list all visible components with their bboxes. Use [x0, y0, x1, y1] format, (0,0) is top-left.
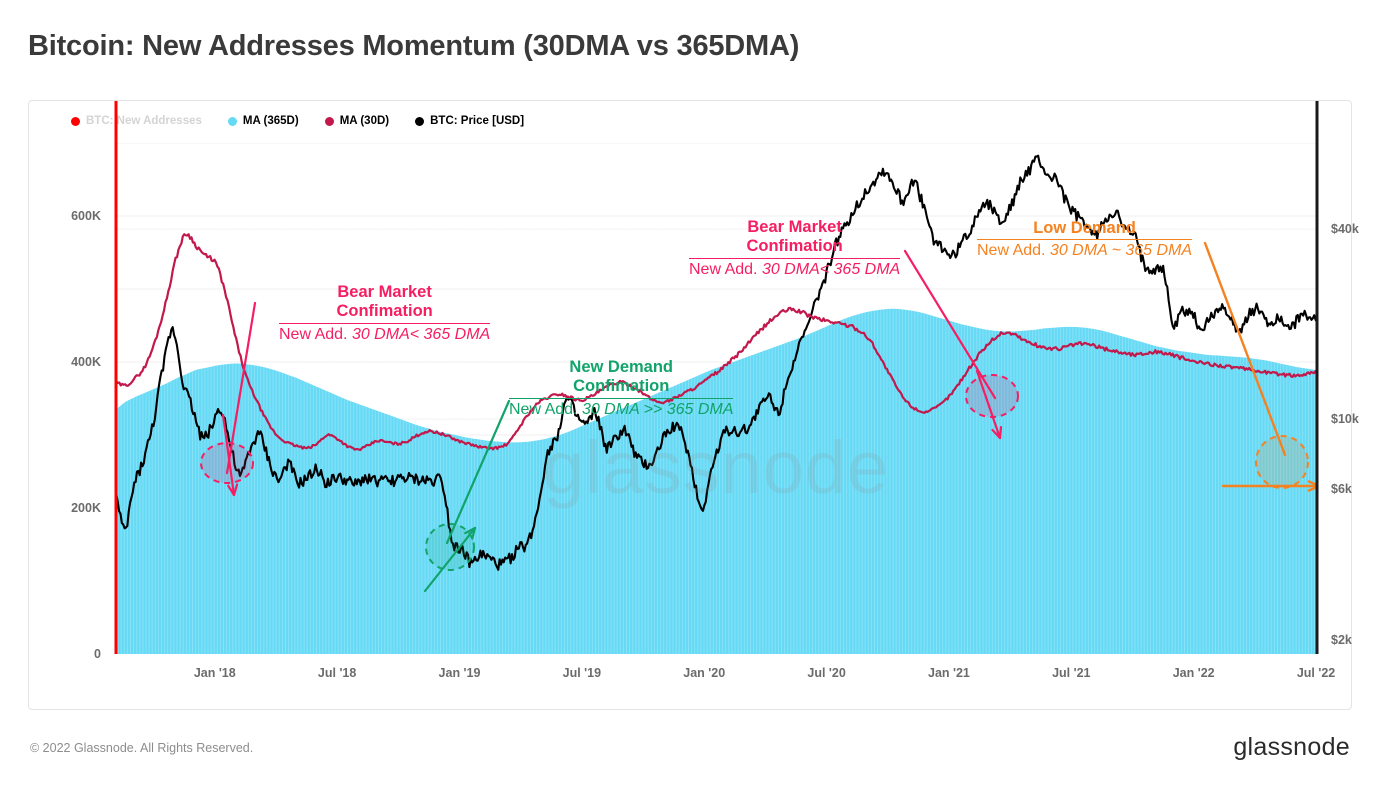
legend-dot-icon [228, 117, 237, 126]
y-axis-right-tick: $6k [1331, 482, 1352, 496]
chart-card: BTC: New Addresses MA (365D) MA (30D) BT… [28, 100, 1352, 710]
chart-page: Bitcoin: New Addresses Momentum (30DMA v… [0, 0, 1380, 795]
annotation-prefix: New Add. [977, 242, 1050, 259]
y-axis-right-tick: $2k [1331, 633, 1352, 647]
y-axis-left-line [111, 101, 121, 656]
y-axis-right-tick: $40k [1331, 222, 1359, 236]
annotation-formula: 30 DMA< 365 DMA [352, 326, 490, 343]
x-axis-tick: Jul '21 [1052, 666, 1090, 680]
x-axis-tick: Jan '19 [439, 666, 481, 680]
annotation-subtitle: New Add. 30 DMA >> 365 DMA [509, 398, 733, 420]
annotation-bear-market-1: Bear Market Confimation New Add. 30 DMA<… [279, 283, 490, 345]
legend-label: BTC: Price [USD] [430, 115, 524, 127]
annotation-subtitle: New Add. 30 DMA< 365 DMA [279, 323, 490, 345]
legend-item-btc-price[interactable]: BTC: Price [USD] [415, 115, 524, 127]
annotation-title: New Demand [509, 358, 733, 377]
annotation-formula: 30 DMA >> 365 DMA [582, 401, 733, 418]
annotation-title: Low Demand [977, 219, 1192, 238]
annotation-low-demand: Low Demand New Add. 30 DMA ~ 365 DMA [977, 219, 1192, 261]
legend-label: MA (30D) [340, 115, 389, 127]
annotation-title-line2: Confimation [509, 377, 733, 396]
annotation-title-line2: Confimation [279, 302, 490, 321]
y-axis-left-tick: 600K [71, 209, 101, 223]
annotation-title-line2: Confimation [689, 237, 900, 256]
annotation-bear-market-2: Bear Market Confimation New Add. 30 DMA<… [689, 218, 900, 280]
annotation-prefix: New Add. [509, 401, 582, 418]
legend-dot-icon [71, 117, 80, 126]
annotation-prefix: New Add. [279, 326, 352, 343]
x-axis-tick: Jan '21 [928, 666, 970, 680]
annotation-formula: 30 DMA ~ 365 DMA [1050, 242, 1192, 259]
legend-item-ma-30d[interactable]: MA (30D) [325, 115, 389, 127]
legend-dot-icon [325, 117, 334, 126]
page-title: Bitcoin: New Addresses Momentum (30DMA v… [28, 30, 799, 63]
glassnode-logo: glassnode [1233, 733, 1350, 762]
x-axis-tick: Jul '22 [1297, 666, 1335, 680]
x-axis-tick: Jan '20 [683, 666, 725, 680]
x-axis-tick: Jul '18 [318, 666, 356, 680]
legend-item-btc-new-addresses[interactable]: BTC: New Addresses [71, 115, 202, 127]
y-axis-left-tick: 400K [71, 355, 101, 369]
annotation-formula: 30 DMA< 365 DMA [762, 261, 900, 278]
annotation-title: Bear Market [689, 218, 900, 237]
legend-label: BTC: New Addresses [86, 115, 202, 127]
legend-item-ma-365d[interactable]: MA (365D) [228, 115, 299, 127]
x-axis-tick: Jan '22 [1173, 666, 1215, 680]
x-axis-tick: Jul '19 [563, 666, 601, 680]
chart-legend: BTC: New Addresses MA (365D) MA (30D) BT… [71, 115, 524, 127]
legend-dot-icon [415, 117, 424, 126]
annotation-prefix: New Add. [689, 261, 762, 278]
annotation-subtitle: New Add. 30 DMA< 365 DMA [689, 258, 900, 280]
annotation-title: Bear Market [279, 283, 490, 302]
x-axis-tick: Jul '20 [807, 666, 845, 680]
y-axis-left-tick: 200K [71, 501, 101, 515]
y-axis-left-tick: 0 [94, 647, 101, 661]
x-axis-tick: Jan '18 [194, 666, 236, 680]
legend-label: MA (365D) [243, 115, 299, 127]
annotation-new-demand: New Demand Confimation New Add. 30 DMA >… [509, 358, 733, 420]
copyright-text: © 2022 Glassnode. All Rights Reserved. [30, 741, 253, 755]
y-axis-right-line [1312, 101, 1322, 656]
annotation-subtitle: New Add. 30 DMA ~ 365 DMA [977, 239, 1192, 261]
y-axis-right-tick: $10k [1331, 412, 1359, 426]
